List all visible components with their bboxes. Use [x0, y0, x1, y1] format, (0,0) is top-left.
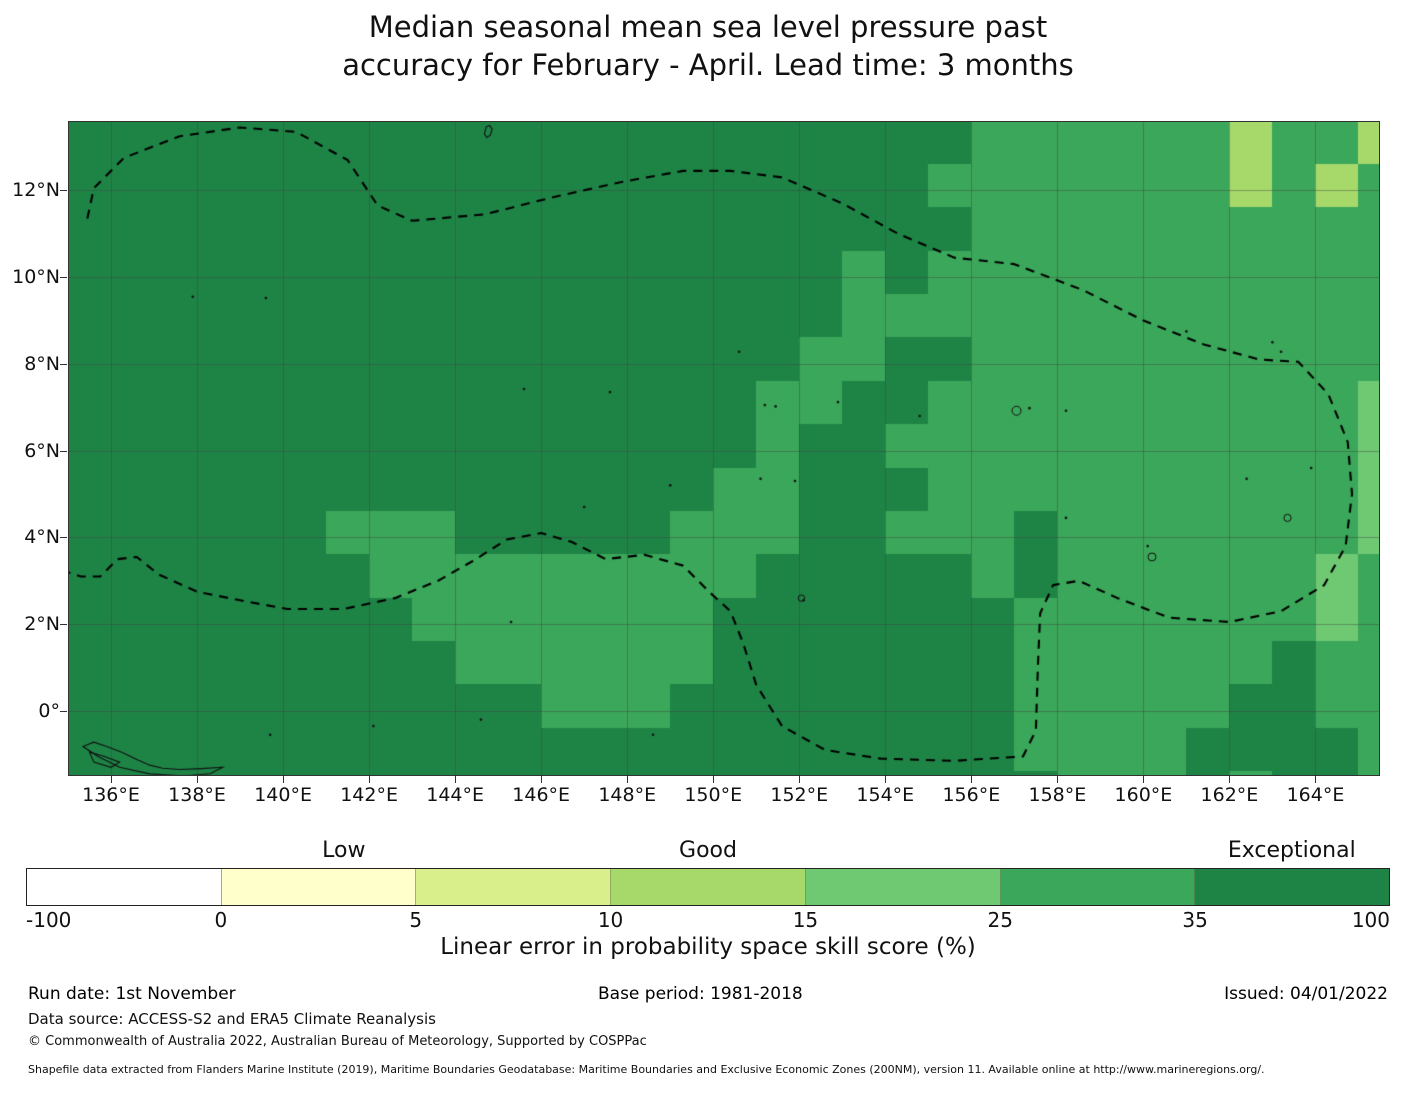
colorbar-tick-labels: -1000510152535100 [26, 908, 1390, 934]
x-axis-tick-label: 148°E [598, 784, 656, 806]
colorbar-segment [416, 869, 611, 905]
x-axis-tick-mark [111, 776, 112, 783]
x-axis-tick-mark [885, 776, 886, 783]
colorbar-segment [1195, 869, 1389, 905]
issued-date-text: Issued: 04/01/2022 [1224, 984, 1388, 1004]
x-axis-tick-label: 136°E [82, 784, 140, 806]
x-axis-tick-mark [283, 776, 284, 783]
y-axis-tick-label: 12°N [0, 179, 60, 201]
colorbar-axis-label: Linear error in probability space skill … [0, 934, 1416, 960]
colorbar-segment [222, 869, 417, 905]
colorbar-segment [1001, 869, 1196, 905]
shapefile-attribution-text: Shapefile data extracted from Flanders M… [28, 1063, 1265, 1076]
x-axis-tick-label: 154°E [856, 784, 914, 806]
x-axis-tick-mark [799, 776, 800, 783]
data-source-text: Data source: ACCESS-S2 and ERA5 Climate … [28, 1010, 436, 1028]
y-axis-tick-label: 4°N [0, 526, 60, 548]
skill-score-heatmap [68, 121, 1380, 776]
y-axis-tick-mark [60, 537, 67, 538]
run-date-text: Run date: 1st November [28, 984, 236, 1004]
y-axis-tick-label: 0° [0, 700, 60, 722]
colorbar-segment [611, 869, 806, 905]
y-axis-tick-label: 8°N [0, 353, 60, 375]
x-axis-tick-label: 144°E [426, 784, 484, 806]
footer-meta-row: Run date: 1st November Base period: 1981… [28, 984, 1388, 1008]
colorbar-zone: LowGoodExceptional -1000510152535100 Lin… [0, 838, 1416, 958]
x-axis-tick-mark [455, 776, 456, 783]
colorbar [26, 868, 1390, 906]
colorbar-quality-label: Good [679, 838, 737, 863]
colorbar-tick-label: -100 [26, 908, 71, 932]
colorbar-quality-label: Exceptional [1228, 838, 1356, 863]
x-axis-tick-mark [1229, 776, 1230, 783]
x-axis-tick-mark [1057, 776, 1058, 783]
x-axis-tick-label: 164°E [1287, 784, 1345, 806]
y-axis-tick-label: 10°N [0, 266, 60, 288]
x-axis-tick-label: 160°E [1115, 784, 1173, 806]
base-period-text: Base period: 1981-2018 [598, 984, 803, 1004]
x-axis-tick-mark [369, 776, 370, 783]
colorbar-segment [806, 869, 1001, 905]
x-axis-tick-label: 162°E [1201, 784, 1259, 806]
colorbar-tick-label: 10 [598, 908, 623, 932]
x-axis-tick-label: 156°E [942, 784, 1000, 806]
x-axis-tick-mark [1143, 776, 1144, 783]
colorbar-tick-label: 15 [793, 908, 818, 932]
x-axis-tick-mark [1315, 776, 1316, 783]
copyright-text: © Commonwealth of Australia 2022, Austra… [28, 1034, 647, 1049]
y-axis-tick-mark [60, 190, 67, 191]
colorbar-segment [27, 869, 222, 905]
x-axis-tick-label: 142°E [340, 784, 398, 806]
colorbar-tick-label: 5 [409, 908, 422, 932]
x-axis-tick-mark [627, 776, 628, 783]
colorbar-tick-label: 25 [988, 908, 1013, 932]
y-axis-tick-label: 2°N [0, 613, 60, 635]
y-axis-tick-mark [60, 364, 67, 365]
x-axis-tick-label: 150°E [684, 784, 742, 806]
x-axis-tick-label: 140°E [254, 784, 312, 806]
x-axis-tick-label: 138°E [168, 784, 226, 806]
x-axis-tick-mark [971, 776, 972, 783]
colorbar-tick-label: 100 [1352, 908, 1390, 932]
colorbar-tick-label: 0 [214, 908, 227, 932]
colorbar-tick-label: 35 [1182, 908, 1207, 932]
y-axis-tick-mark [60, 624, 67, 625]
y-axis-tick-mark [60, 451, 67, 452]
y-axis-tick-mark [60, 277, 67, 278]
page-title: Median seasonal mean sea level pressure … [0, 8, 1416, 84]
map-figure [68, 121, 1380, 776]
x-axis-tick-label: 158°E [1028, 784, 1086, 806]
x-axis-tick-label: 146°E [512, 784, 570, 806]
x-axis-tick-mark [197, 776, 198, 783]
y-axis-tick-label: 6°N [0, 440, 60, 462]
x-axis-tick-label: 152°E [770, 784, 828, 806]
colorbar-quality-label: Low [322, 838, 365, 863]
y-axis-tick-mark [60, 711, 67, 712]
x-axis-tick-mark [541, 776, 542, 783]
colorbar-quality-labels: LowGoodExceptional [26, 838, 1390, 868]
x-axis-tick-mark [713, 776, 714, 783]
